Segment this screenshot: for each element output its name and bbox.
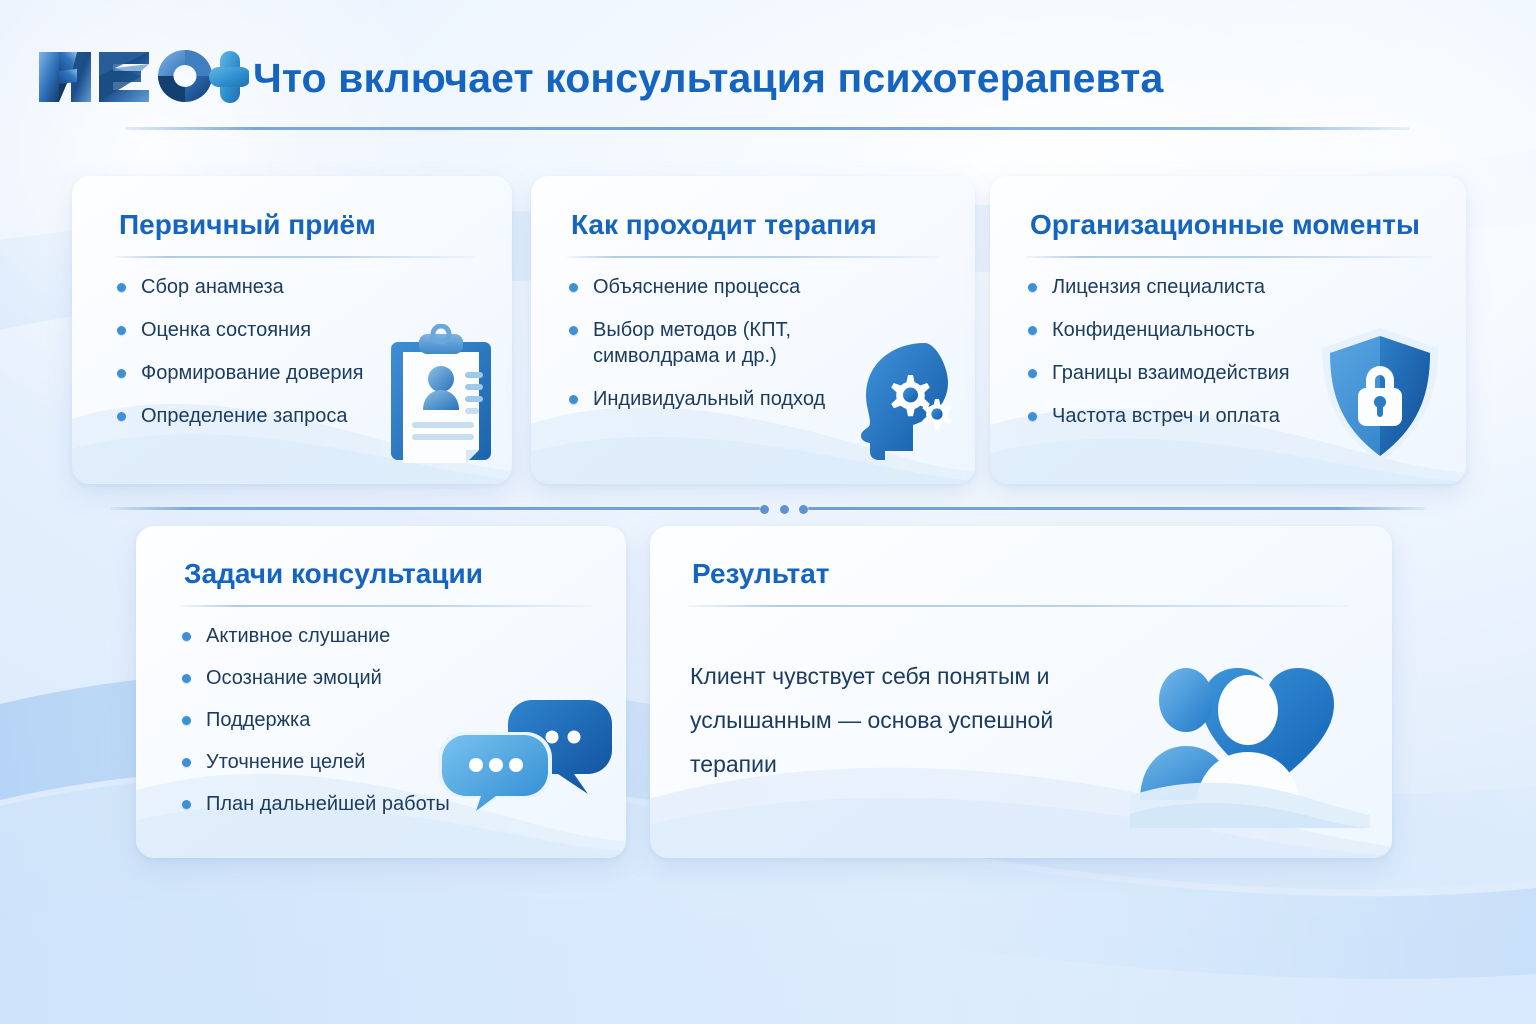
list-item-label: Частота встреч и оплата xyxy=(1052,405,1280,427)
bullet-dot-icon xyxy=(1028,369,1037,378)
bullet-dot-icon xyxy=(182,716,191,725)
list-item[interactable]: Поддержка xyxy=(180,707,510,733)
bullet-dot-icon xyxy=(182,800,191,809)
header-divider xyxy=(125,127,1410,130)
list-item-label: Конфиденциальность xyxy=(1052,319,1255,341)
bullet-dot-icon xyxy=(1028,412,1037,421)
card-title: Задачи консультации xyxy=(184,558,483,590)
divider-dot-icon xyxy=(760,505,769,514)
bullet-dot-icon xyxy=(182,674,191,683)
card-consultation-tasks[interactable]: Задачи консультации Активное слушание Ос… xyxy=(136,526,626,858)
list-item[interactable]: Формирование доверия xyxy=(115,360,445,386)
result-body-text: Клиент чувствует себя понятым и услышанн… xyxy=(690,654,1110,786)
card-title-divider xyxy=(1026,256,1432,258)
divider-dot-icon xyxy=(780,505,789,514)
list-item[interactable]: Осознание эмоций xyxy=(180,665,510,691)
card-title: Как проходит терапия xyxy=(571,209,877,241)
list-item-label: План дальнейшей работы xyxy=(206,793,450,815)
list-item-label: Сбор анамнеза xyxy=(141,276,284,298)
bullet-dot-icon xyxy=(569,326,578,335)
list-item-label: Границы взаимодействия xyxy=(1052,362,1290,384)
list-item-label: Осознание эмоций xyxy=(206,667,382,689)
bullet-dot-icon xyxy=(117,326,126,335)
bullet-dot-icon xyxy=(569,395,578,404)
list-item[interactable]: Выбор методов (КПТ, символдрама и др.) xyxy=(567,317,867,369)
list-item-label: Выбор методов (КПТ, символдрама и др.) xyxy=(593,319,791,367)
divider-dots xyxy=(760,501,808,517)
list-item[interactable]: Уточнение целей xyxy=(180,749,510,775)
infographic-canvas: Что включает консультация психотерапевта… xyxy=(0,0,1536,1024)
list-item[interactable]: Границы взаимодействия xyxy=(1026,360,1346,386)
card-title: Организационные моменты xyxy=(1030,209,1420,241)
bullet-dot-icon xyxy=(1028,283,1037,292)
list-item-label: Уточнение целей xyxy=(206,751,365,773)
card-title-divider xyxy=(115,256,475,258)
bullet-dot-icon xyxy=(117,283,126,292)
list-item[interactable]: Активное слушание xyxy=(180,623,510,649)
list-item[interactable]: Частота встреч и оплата xyxy=(1026,403,1346,429)
card-title-divider xyxy=(180,605,592,607)
list-item[interactable]: План дальнейшей работы xyxy=(180,791,510,817)
list-item-label: Формирование доверия xyxy=(141,362,363,384)
section-divider xyxy=(0,492,1536,524)
bullet-list-tasks: Активное слушание Осознание эмоций Подде… xyxy=(180,623,510,833)
divider-dot-icon xyxy=(799,505,808,514)
list-item[interactable]: Конфиденциальность xyxy=(1026,317,1346,343)
neo-plus-logo-icon xyxy=(37,46,249,108)
bullet-dot-icon xyxy=(117,412,126,421)
list-item[interactable]: Индивидуальный подход xyxy=(567,386,867,412)
list-item[interactable]: Лицензия специалиста xyxy=(1026,274,1346,300)
card-organizational[interactable]: Организационные моменты Лицензия специал… xyxy=(990,176,1466,484)
bullet-dot-icon xyxy=(117,369,126,378)
card-primary-consultation[interactable]: Первичный приём Сбор анамнеза Оценка сос… xyxy=(72,176,512,484)
divider-line-right xyxy=(808,507,1425,510)
list-item-label: Поддержка xyxy=(206,709,310,731)
bullet-dot-icon xyxy=(569,283,578,292)
card-title-divider xyxy=(567,256,939,258)
list-item[interactable]: Оценка состояния xyxy=(115,317,445,343)
list-item[interactable]: Определение запроса xyxy=(115,403,445,429)
bullet-dot-icon xyxy=(182,758,191,767)
card-title: Результат xyxy=(692,558,830,590)
card-title: Первичный приём xyxy=(119,209,376,241)
bullet-dot-icon xyxy=(1028,326,1037,335)
people-heart-icon xyxy=(1130,638,1370,828)
card-result[interactable]: Результат Клиент чувствует себя понятым … xyxy=(650,526,1392,858)
list-item[interactable]: Объяснение процесса xyxy=(567,274,867,300)
bullet-list-therapy: Объяснение процесса Выбор методов (КПТ, … xyxy=(567,274,867,429)
bullet-dot-icon xyxy=(182,632,191,641)
list-item-label: Определение запроса xyxy=(141,405,348,427)
page-title: Что включает консультация психотерапевта xyxy=(253,55,1163,102)
bullet-list-primary: Сбор анамнеза Оценка состояния Формирова… xyxy=(115,274,445,446)
divider-line-left xyxy=(110,507,760,510)
list-item[interactable]: Сбор анамнеза xyxy=(115,274,445,300)
bullet-list-organizational: Лицензия специалиста Конфиденциальность … xyxy=(1026,274,1346,446)
card-title-divider xyxy=(688,605,1348,607)
list-item-label: Активное слушание xyxy=(206,625,390,647)
list-item-label: Объяснение процесса xyxy=(593,276,800,298)
list-item-label: Лицензия специалиста xyxy=(1052,276,1265,298)
list-item-label: Оценка состояния xyxy=(141,319,311,341)
card-therapy-process[interactable]: Как проходит терапия Объяснение процесса… xyxy=(531,176,975,484)
header: Что включает консультация психотерапевта xyxy=(0,0,1536,140)
list-item-label: Индивидуальный подход xyxy=(593,388,825,410)
